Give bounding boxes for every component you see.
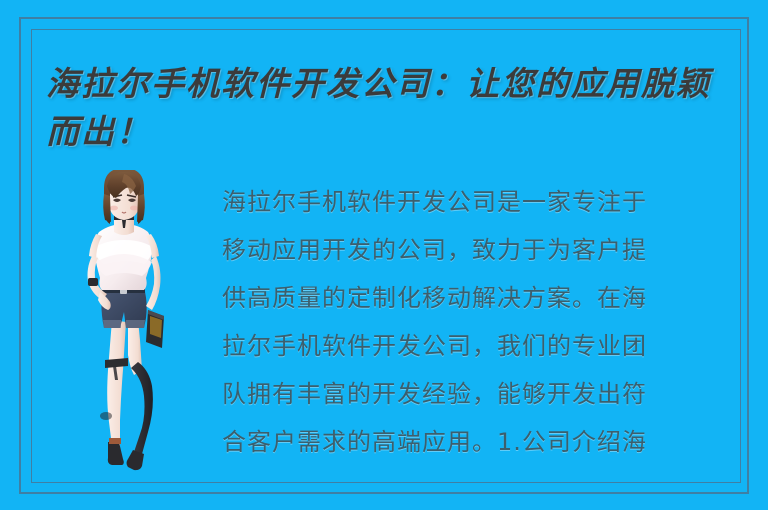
- body-line: 合客户需求的高端应用。1.公司介绍海: [222, 418, 734, 466]
- anime-girl-illustration: [76, 170, 172, 472]
- content-area: 海拉尔手机软件开发公司是一家专注于 移动应用开发的公司，致力于为客户提 供高质量…: [46, 168, 738, 474]
- body-line: 队拥有丰富的开发经验，能够开发出符: [222, 370, 734, 418]
- body-line: 拉尔手机软件开发公司，我们的专业团: [222, 322, 734, 370]
- body-line: 供高质量的定制化移动解决方案。在海: [222, 274, 734, 322]
- body-copy: 海拉尔手机软件开发公司是一家专注于 移动应用开发的公司，致力于为客户提 供高质量…: [222, 178, 734, 466]
- body-line: 移动应用开发的公司，致力于为客户提: [222, 226, 734, 274]
- body-line: 海拉尔手机软件开发公司是一家专注于: [222, 178, 734, 226]
- page-title: 海拉尔手机软件开发公司：让您的应用脱颖而出！: [46, 60, 736, 156]
